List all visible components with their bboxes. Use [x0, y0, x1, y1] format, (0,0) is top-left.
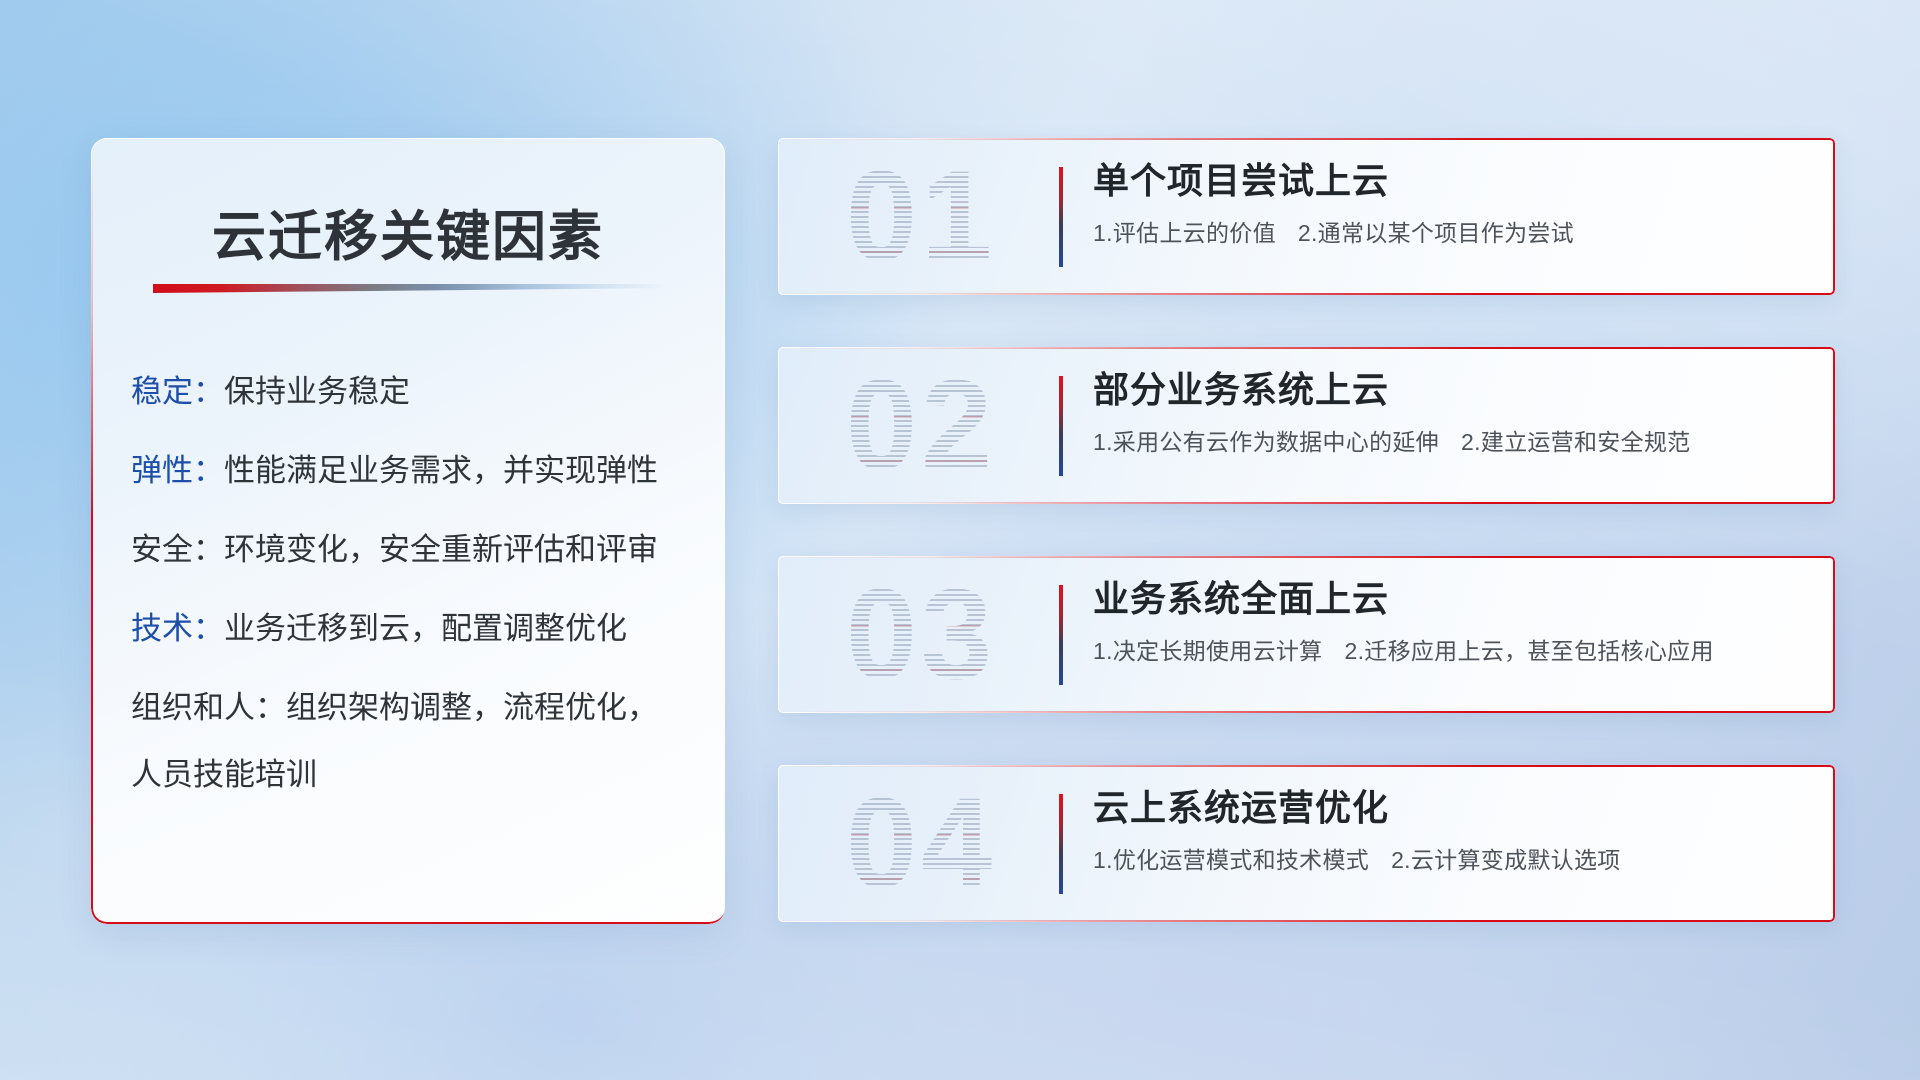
- factor-value: 业务迁移到云，配置调整优化: [224, 611, 627, 646]
- factor-row: 弹性：性能满足业务需求，并实现弹性: [131, 455, 699, 486]
- stage-card[interactable]: 02 02 部分业务系统上云 1.采用公有云作为数据中心的延伸2.建立运营和安全…: [778, 347, 1835, 504]
- card-numeral-ghost-tint: 04: [806, 773, 1036, 915]
- panel-title-gradient-rule: [153, 284, 665, 293]
- card-title: 部分业务系统上云: [1093, 369, 1811, 411]
- factor-list: 稳定：保持业务稳定 弹性：性能满足业务需求，并实现弹性 安全：环境变化，安全重新…: [131, 376, 699, 790]
- stage-card[interactable]: 03 03 业务系统全面上云 1.决定长期使用云计算2.迁移应用上云，甚至包括核…: [778, 556, 1835, 713]
- factor-value: 性能满足业务需求，并实现弹性: [224, 453, 658, 488]
- card-subtitle-item-2: 2.通常以某个项目作为尝试: [1298, 220, 1574, 246]
- card-title: 业务系统全面上云: [1093, 578, 1811, 620]
- factor-key: 稳定：: [131, 374, 224, 409]
- card-divider-bar: [1059, 376, 1063, 476]
- factor-key: 组织和人：: [131, 690, 286, 725]
- card-divider-bar: [1059, 794, 1063, 894]
- factor-row: 安全：环境变化，安全重新评估和评审: [131, 534, 699, 565]
- card-title: 单个项目尝试上云: [1093, 160, 1811, 202]
- card-numeral-ghost-tint: 02: [806, 355, 1036, 497]
- card-subtitle-item-2: 2.云计算变成默认选项: [1391, 847, 1620, 873]
- factor-key: 弹性：: [131, 453, 224, 488]
- factor-key: 安全：: [131, 532, 224, 567]
- card-text-block: 业务系统全面上云 1.决定长期使用云计算2.迁移应用上云，甚至包括核心应用: [1093, 578, 1811, 666]
- card-subtitle: 1.采用公有云作为数据中心的延伸2.建立运营和安全规范: [1093, 423, 1811, 457]
- factor-row: 组织和人：组织架构调整，流程优化，: [131, 692, 699, 723]
- card-subtitle-item-1: 1.采用公有云作为数据中心的延伸: [1093, 429, 1439, 455]
- card-text-block: 部分业务系统上云 1.采用公有云作为数据中心的延伸2.建立运营和安全规范: [1093, 369, 1811, 457]
- stage-card[interactable]: 04 04 云上系统运营优化 1.优化运营模式和技术模式2.云计算变成默认选项: [778, 765, 1835, 922]
- card-divider-bar: [1059, 585, 1063, 685]
- factor-row: 稳定：保持业务稳定: [131, 376, 699, 407]
- card-numeral-ghost-tint: 03: [806, 564, 1036, 706]
- card-subtitle-item-2: 2.迁移应用上云，甚至包括核心应用: [1344, 638, 1713, 664]
- factor-value: 保持业务稳定: [224, 374, 410, 409]
- card-text-block: 云上系统运营优化 1.优化运营模式和技术模式2.云计算变成默认选项: [1093, 787, 1811, 875]
- factor-key: 技术：: [131, 611, 224, 646]
- card-subtitle-item-2: 2.建立运营和安全规范: [1461, 429, 1690, 455]
- stage-card[interactable]: 01 01 单个项目尝试上云 1.评估上云的价值2.通常以某个项目作为尝试: [778, 138, 1835, 295]
- card-numeral-ghost-tint: 01: [806, 146, 1036, 288]
- factor-row: 技术：业务迁移到云，配置调整优化: [131, 613, 699, 644]
- card-subtitle-item-1: 1.决定长期使用云计算: [1093, 638, 1322, 664]
- card-title: 云上系统运营优化: [1093, 787, 1811, 829]
- stage-card-list: 01 01 单个项目尝试上云 1.评估上云的价值2.通常以某个项目作为尝试 02…: [778, 138, 1835, 922]
- panel-title: 云迁移关键因素: [91, 192, 725, 271]
- factor-value: 组织架构调整，流程优化，: [286, 690, 658, 725]
- card-subtitle-item-1: 1.优化运营模式和技术模式: [1093, 847, 1369, 873]
- factor-value: 环境变化，安全重新评估和评审: [224, 532, 658, 567]
- card-text-block: 单个项目尝试上云 1.评估上云的价值2.通常以某个项目作为尝试: [1093, 160, 1811, 248]
- card-divider-bar: [1059, 167, 1063, 267]
- card-subtitle: 1.评估上云的价值2.通常以某个项目作为尝试: [1093, 214, 1811, 248]
- card-subtitle: 1.决定长期使用云计算2.迁移应用上云，甚至包括核心应用: [1093, 632, 1811, 666]
- slide-stage: 云迁移关键因素 稳定：保持业务稳定 弹性：性能满足业务需求，并实现弹性 安全：环…: [0, 0, 1920, 1080]
- factor-value-line2: 人员技能培训: [131, 757, 317, 792]
- factor-row-continued: 人员技能培训: [131, 759, 699, 790]
- card-subtitle: 1.优化运营模式和技术模式2.云计算变成默认选项: [1093, 841, 1811, 875]
- card-subtitle-item-1: 1.评估上云的价值: [1093, 220, 1276, 246]
- key-factors-panel: 云迁移关键因素 稳定：保持业务稳定 弹性：性能满足业务需求，并实现弹性 安全：环…: [91, 138, 725, 924]
